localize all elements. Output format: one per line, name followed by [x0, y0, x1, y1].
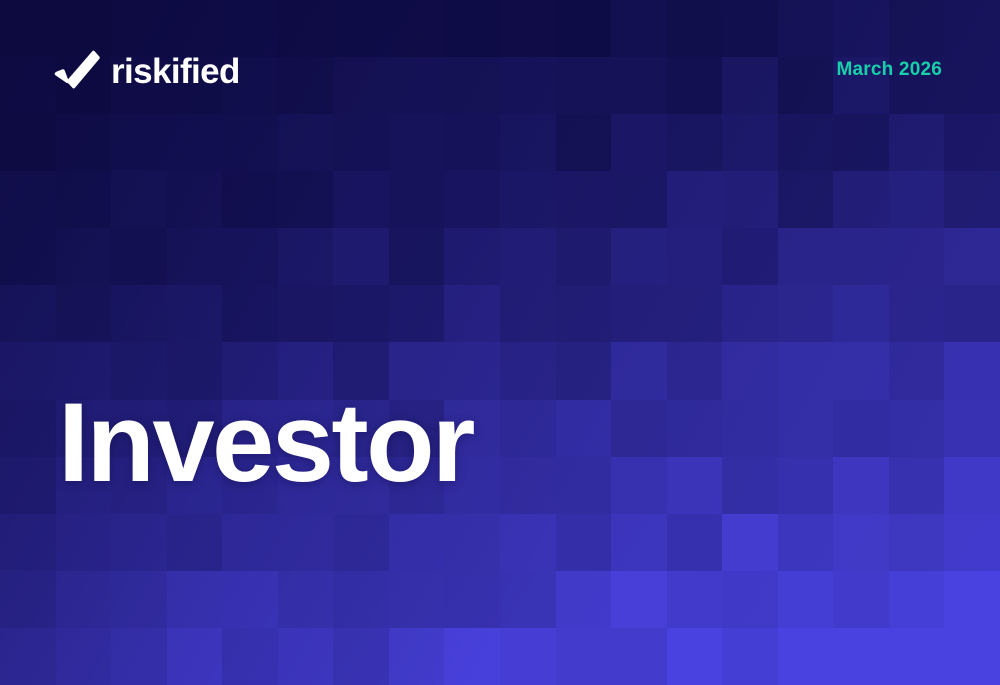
mosaic-tile: [722, 400, 778, 457]
mosaic-tile: [889, 342, 945, 399]
mosaic-tile: [0, 285, 56, 342]
mosaic-tile: [833, 457, 889, 514]
mosaic-tile: [833, 342, 889, 399]
mosaic-tile: [778, 400, 834, 457]
mosaic-tile: [889, 228, 945, 285]
mosaic-tile: [778, 457, 834, 514]
mosaic-tile: [833, 285, 889, 342]
mosaic-tile: [889, 400, 945, 457]
mosaic-tile: [889, 628, 945, 685]
riskified-logo[interactable]: riskified: [54, 50, 240, 90]
mosaic-tile: [944, 400, 1000, 457]
mosaic-tile: [944, 457, 1000, 514]
mosaic-tile: [889, 571, 945, 628]
mosaic-tile: [889, 285, 945, 342]
mosaic-tile: [0, 342, 56, 399]
mosaic-tile: [0, 228, 56, 285]
mosaic-tile: [722, 457, 778, 514]
mosaic-tile: [944, 171, 1000, 228]
mosaic-tile: [833, 400, 889, 457]
mosaic-tile: [0, 571, 56, 628]
mosaic-tile: [833, 571, 889, 628]
mosaic-tile: [833, 171, 889, 228]
mosaic-tile: [0, 628, 56, 685]
mosaic-tile: [0, 514, 56, 571]
mosaic-tile: [778, 285, 834, 342]
mosaic-tile: [944, 571, 1000, 628]
riskified-check-mark-icon: [54, 50, 100, 90]
mosaic-tile: [778, 514, 834, 571]
mosaic-tile: [889, 457, 945, 514]
slide-header: riskified March 2026: [0, 0, 1000, 140]
mosaic-tile: [833, 628, 889, 685]
mosaic-tile: [778, 228, 834, 285]
mosaic-tile: [889, 514, 945, 571]
mosaic-tile: [833, 228, 889, 285]
mosaic-tile: [0, 171, 56, 228]
mosaic-tile: [722, 228, 778, 285]
mosaic-tile: [778, 342, 834, 399]
mosaic-tile: [722, 285, 778, 342]
page-title: Investor Presentation: [58, 196, 705, 685]
mosaic-tile: [778, 571, 834, 628]
mosaic-tile: [722, 514, 778, 571]
mosaic-tile: [944, 228, 1000, 285]
mosaic-tile: [722, 571, 778, 628]
mosaic-tile: [944, 342, 1000, 399]
mosaic-tile: [889, 171, 945, 228]
page-title-line-1: Investor: [58, 361, 705, 526]
mosaic-tile: [944, 628, 1000, 685]
mosaic-tile: [722, 342, 778, 399]
mosaic-tile: [778, 171, 834, 228]
mosaic-tile: [0, 457, 56, 514]
mosaic-tile: [0, 400, 56, 457]
mosaic-tile: [944, 285, 1000, 342]
presentation-date: March 2026: [836, 59, 942, 81]
title-slide: riskified March 2026 Investor Presentati…: [0, 0, 1000, 685]
riskified-wordmark: riskified: [111, 54, 240, 89]
mosaic-tile: [778, 628, 834, 685]
mosaic-tile: [944, 514, 1000, 571]
mosaic-tile: [722, 171, 778, 228]
mosaic-tile: [833, 514, 889, 571]
mosaic-tile: [722, 628, 778, 685]
